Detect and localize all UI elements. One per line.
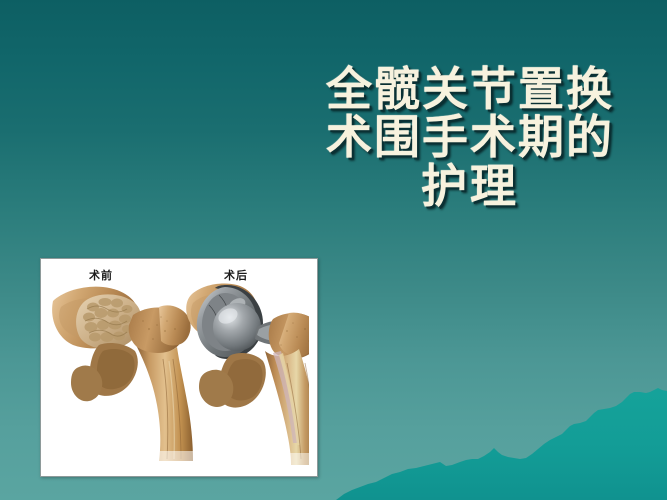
hip-replacement-illustration (41, 259, 318, 477)
title-line-1: 全髋关节置换 (300, 66, 640, 114)
presentation-slide: 全髋关节置换 术围手术期的 护理 (0, 0, 667, 500)
femoral-head-implant (213, 303, 261, 351)
title-line-2: 术围手术期的 (300, 114, 640, 162)
figure-caption-post-op: 术后 (224, 267, 248, 283)
title-line-3: 护理 (300, 163, 640, 211)
figure-caption-pre-op: 术前 (89, 267, 113, 283)
figure-frame: 术前 术后 (40, 258, 318, 477)
slide-title: 全髋关节置换 术围手术期的 护理 (300, 66, 640, 211)
